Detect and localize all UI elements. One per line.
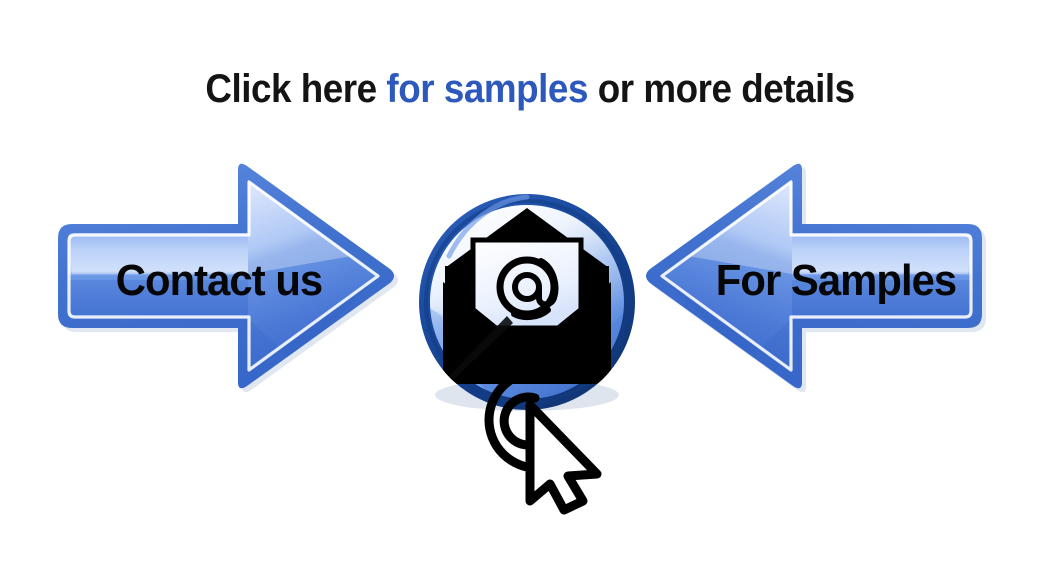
for-samples-arrow-button[interactable]: For Samples [648,162,988,392]
headline-part-1: Click here [205,67,386,111]
cursor-overlay[interactable] [475,358,625,503]
contact-us-label: Contact us [81,254,357,308]
contact-us-arrow-button[interactable]: Contact us [52,162,392,392]
email-badge-button[interactable] [415,190,639,414]
mouse-pointer-click-icon[interactable] [475,358,625,503]
headline-accent: for samples [386,67,588,111]
promo-banner: Click here for samples or more details [0,0,1060,565]
pointer-arrow[interactable] [530,405,597,510]
headline-part-2: or more details [588,67,855,111]
page-title: Click here for samples or more details [42,62,1017,116]
for-samples-label: For Samples [695,254,976,308]
